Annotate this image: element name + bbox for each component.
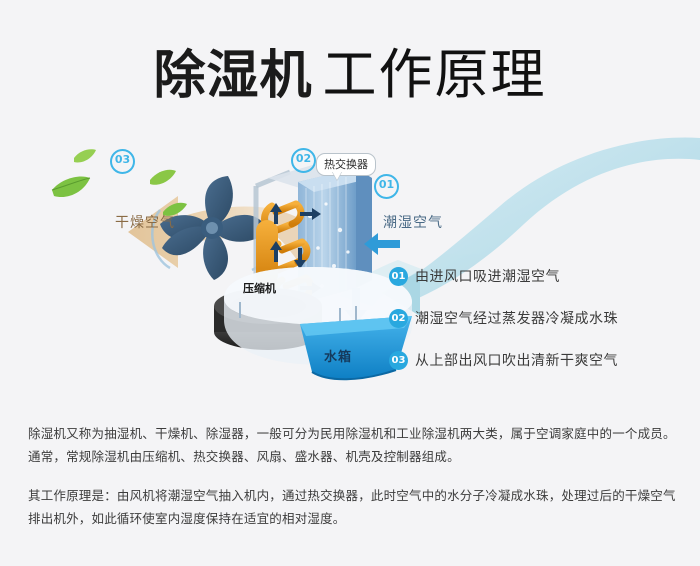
step-badge-02: 02 <box>389 309 408 328</box>
description-paragraph-2: 其工作原理是：由风机将潮湿空气抽入机内，通过热交换器，此时空气中的水分子冷凝成水… <box>28 484 676 530</box>
illustration-badge-03: 03 <box>110 149 135 174</box>
step-text-03: 从上部出风口吹出清新干爽空气 <box>415 350 618 370</box>
page-title-secondary: 工作原理 <box>323 43 547 106</box>
step-text-02: 潮湿空气经过蒸发器冷凝成水珠 <box>415 308 618 328</box>
label-compressor: 压缩机 <box>243 280 276 296</box>
step-item: 03 从上部出风口吹出清新干爽空气 <box>389 339 689 381</box>
step-text-01: 由进风口吸进潮湿空气 <box>415 266 560 286</box>
step-item: 02 潮湿空气经过蒸发器冷凝成水珠 <box>389 297 689 339</box>
label-dry-air: 干燥空气 <box>115 212 175 232</box>
callout-pointer-icon <box>332 171 342 180</box>
steps-list: 01 由进风口吸进潮湿空气 02 潮湿空气经过蒸发器冷凝成水珠 03 从上部出风… <box>389 255 689 381</box>
illustration-badge-01: 01 <box>374 174 399 199</box>
step-badge-03: 03 <box>389 351 408 370</box>
callout-heat-exchanger: 热交换器 <box>316 153 376 176</box>
step-item: 01 由进风口吸进潮湿空气 <box>389 255 689 297</box>
page-title: 除湿机工作原理 <box>0 30 700 109</box>
page-title-primary: 除湿机 <box>153 46 312 106</box>
description-block: 除湿机又称为抽湿机、干燥机、除湿器，一般可分为民用除湿机和工业除湿机两大类，属于… <box>28 422 676 530</box>
page-root: 除湿机工作原理 <box>0 0 700 566</box>
step-badge-01: 01 <box>389 267 408 286</box>
description-paragraph-1: 除湿机又称为抽湿机、干燥机、除湿器，一般可分为民用除湿机和工业除湿机两大类，属于… <box>28 422 676 468</box>
label-humid-air: 潮湿空气 <box>383 212 443 232</box>
illustration-badge-02: 02 <box>291 148 316 173</box>
label-water-tank: 水箱 <box>324 346 352 365</box>
